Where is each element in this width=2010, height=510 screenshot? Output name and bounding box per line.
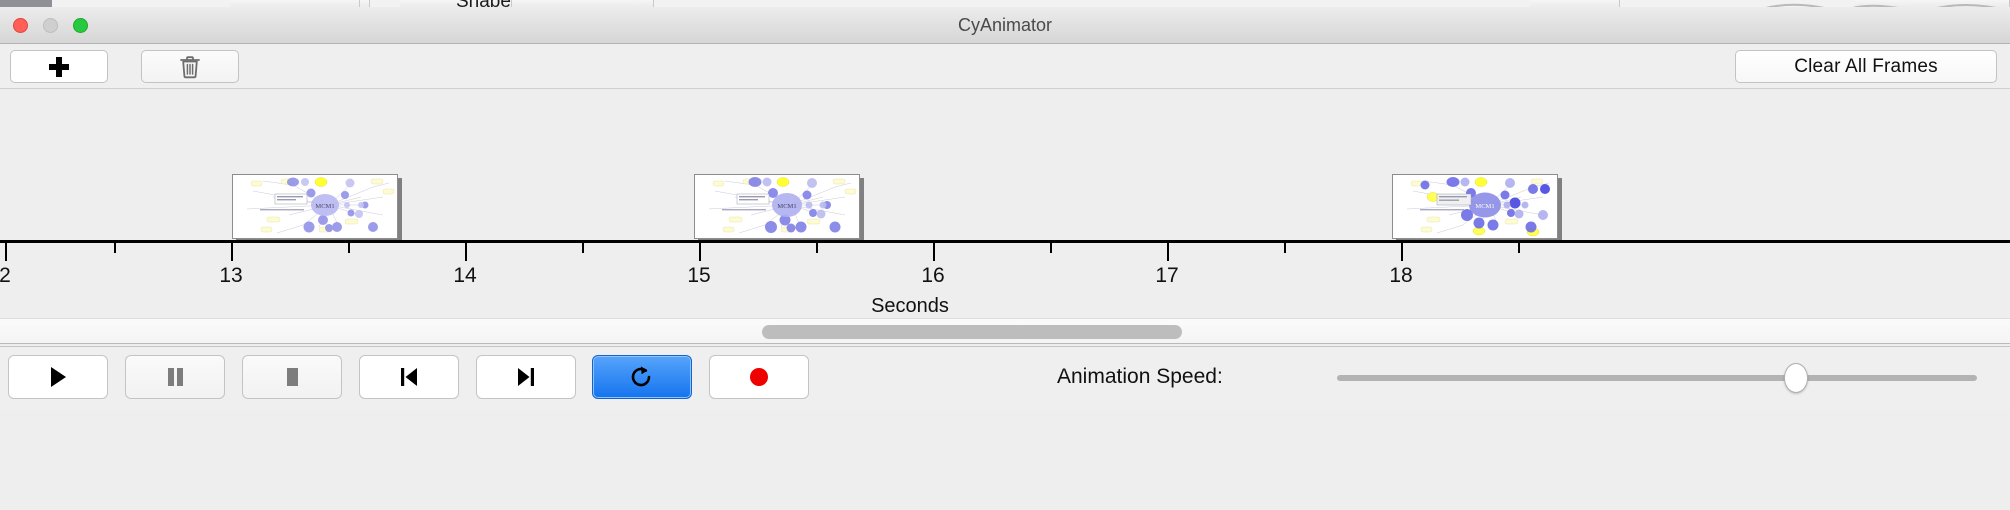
scrollbar-thumb[interactable] — [762, 325, 1182, 339]
ruler-tick-label: 16 — [921, 264, 944, 288]
skip-next-icon — [515, 365, 537, 389]
stop-button[interactable] — [242, 355, 342, 399]
ruler-tick-major — [1167, 243, 1169, 261]
ruler-tick-major — [699, 243, 701, 261]
ruler-tick-major — [5, 243, 7, 261]
ruler-tick-label: 15 — [687, 264, 710, 288]
ruler-axis-title: Seconds — [0, 295, 1820, 318]
title-bar: CyAnimator — [0, 7, 2010, 44]
ruler-tick-label: 17 — [1155, 264, 1178, 288]
pause-icon — [164, 365, 186, 389]
svg-text:MCM1: MCM1 — [315, 203, 334, 210]
clear-all-frames-label: Clear All Frames — [1794, 56, 1938, 78]
skip-previous-icon — [398, 365, 420, 389]
ruler-tick-label: 14 — [453, 264, 476, 288]
ruler-tick-label: 13 — [219, 264, 242, 288]
toolbar: Clear All Frames — [0, 44, 2010, 89]
timeline-frame-thumbnail[interactable]: MCM1 — [694, 174, 864, 241]
plus-icon — [49, 57, 69, 77]
frame-network-preview: MCM1 — [232, 174, 398, 239]
record-button[interactable] — [709, 355, 809, 399]
delete-frame-button[interactable] — [141, 50, 239, 83]
previous-frame-button[interactable] — [359, 355, 459, 399]
ruler-tick-minor — [1518, 243, 1520, 253]
animation-speed-label: Animation Speed: — [1057, 355, 1223, 399]
playback-control-bar: Animation Speed: — [0, 346, 2010, 410]
ruler-tick-label: 18 — [1389, 264, 1412, 288]
play-icon — [47, 365, 69, 389]
loop-button[interactable] — [592, 355, 692, 399]
svg-text:MCM1: MCM1 — [777, 203, 796, 210]
loop-icon — [630, 364, 654, 390]
ruler-tick-minor — [348, 243, 350, 253]
cyanimator-window: Shape CyAnimator — [0, 0, 2010, 510]
ruler-tick-major — [933, 243, 935, 261]
animation-speed-slider-thumb[interactable] — [1784, 363, 1808, 393]
ruler-tick-minor — [1284, 243, 1286, 253]
add-frame-button[interactable] — [10, 50, 108, 83]
timeline-ruler[interactable]: 2 13 14 15 16 17 18 Seconds — [0, 240, 2010, 314]
stop-icon — [281, 365, 303, 389]
pause-button[interactable] — [125, 355, 225, 399]
timeline-frame-thumbnail[interactable]: MCM1 — [232, 174, 402, 241]
ruler-tick-minor — [114, 243, 116, 253]
ruler-baseline — [0, 240, 2010, 243]
window-title: CyAnimator — [0, 7, 2010, 44]
ruler-tick-major — [465, 243, 467, 261]
frame-network-preview: MCM1 — [1392, 174, 1558, 239]
ruler-tick-major — [1401, 243, 1403, 261]
timeline-horizontal-scrollbar[interactable] — [0, 318, 2010, 344]
ruler-tick-major — [231, 243, 233, 261]
record-icon — [747, 365, 771, 389]
timeline-frame-thumbnail[interactable]: MCM1 — [1392, 174, 1562, 241]
ruler-tick-minor — [582, 243, 584, 253]
animation-speed-slider[interactable] — [1337, 375, 1977, 381]
frame-network-preview: MCM1 — [694, 174, 860, 239]
play-button[interactable] — [8, 355, 108, 399]
ruler-tick-label: 2 — [0, 264, 11, 288]
ruler-tick-minor — [1050, 243, 1052, 253]
svg-text:MCM1: MCM1 — [1475, 203, 1494, 210]
clear-all-frames-button[interactable]: Clear All Frames — [1735, 50, 1997, 83]
ruler-tick-minor — [816, 243, 818, 253]
next-frame-button[interactable] — [476, 355, 576, 399]
trash-icon — [179, 55, 201, 79]
